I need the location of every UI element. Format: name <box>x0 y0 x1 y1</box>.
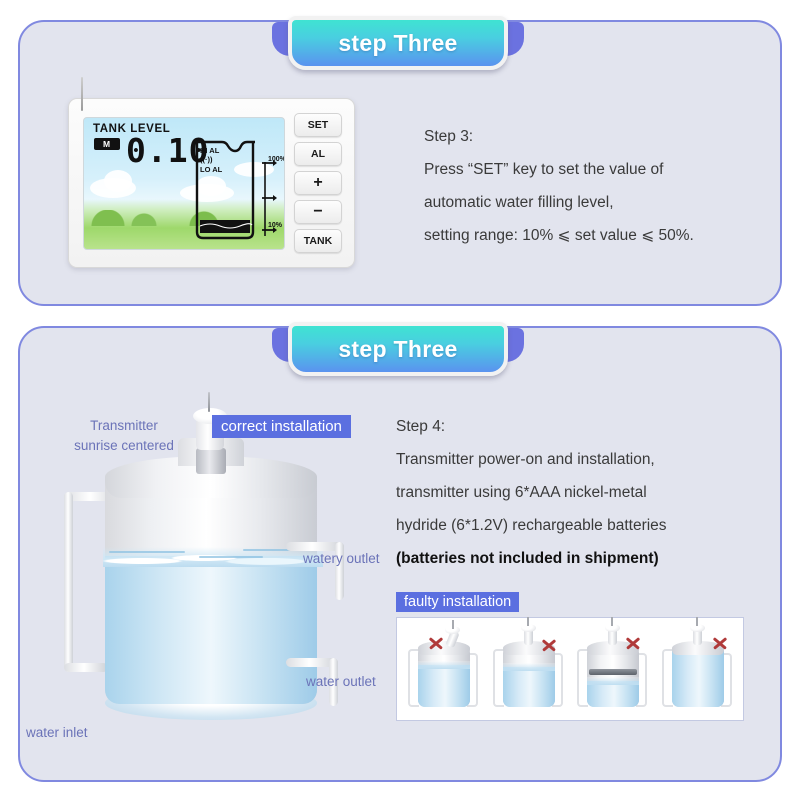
transmitter-label-line2: sunrise centered <box>58 436 190 456</box>
x-mark-icon <box>625 635 641 651</box>
mini-transmitter-antenna-icon <box>611 617 613 626</box>
al-key[interactable]: AL <box>294 142 342 166</box>
mini-transmitter-antenna-icon <box>452 620 454 629</box>
lcd-lo-alarm: LO AL <box>200 165 222 174</box>
step-banner-top: step Three <box>272 16 524 70</box>
mini-water <box>418 665 470 707</box>
mini-water <box>587 681 639 707</box>
wave-line <box>199 556 263 558</box>
faulty-installation-examples <box>396 617 744 721</box>
step4-line4: hydride (6*1.2V) rechargeable batteries <box>396 509 667 542</box>
mini-transmitter-antenna-icon <box>527 617 529 626</box>
mini-tank-body <box>503 649 555 707</box>
step4-line3: transmitter using 6*AAA nickel-metal <box>396 476 667 509</box>
lcd-hi-alarm: HI AL <box>200 146 222 155</box>
water-outlet-label: water outlet <box>306 674 376 689</box>
transmitter-label-line1: Transmitter <box>58 416 190 436</box>
lcd-screen: TANK LEVEL M 0.10 HI AL ((·)) LO AL <box>83 117 285 250</box>
minus-key[interactable]: − <box>294 200 342 224</box>
x-mark-icon <box>541 637 557 653</box>
transmitter-mount <box>196 448 226 474</box>
lcd-percent-scale: 100% 10% <box>262 160 282 238</box>
faulty-example-obstructed-baffle <box>573 623 651 715</box>
mini-tank-body <box>672 649 724 707</box>
antenna-icon <box>81 77 83 111</box>
correct-installation-badge: correct installation <box>212 415 351 438</box>
banner-label: step Three <box>338 336 457 363</box>
mini-water-surface <box>587 677 639 685</box>
ribbon-body: step Three <box>288 16 508 70</box>
mini-tank-dome <box>418 641 470 655</box>
water-inlet-label: water inlet <box>26 725 88 740</box>
mini-tank-body <box>418 649 470 707</box>
tank-key[interactable]: TANK <box>294 229 342 253</box>
transmitter-label: Transmitter sunrise centered <box>58 416 190 456</box>
x-mark-icon <box>712 635 728 651</box>
step4-instructions: Step 4: Transmitter power-on and install… <box>396 410 667 575</box>
tank-water <box>105 556 317 704</box>
banner-label: step Three <box>338 30 457 57</box>
step-banner-bottom: step Three <box>272 322 524 376</box>
faulty-example-overfilled-tank <box>658 623 736 715</box>
baffle-plate <box>589 669 637 675</box>
step3-instructions: Step 3: Press “SET” key to set the value… <box>424 120 694 252</box>
step4-line5: (batteries not included in shipment) <box>396 542 667 575</box>
set-key[interactable]: SET <box>294 113 342 137</box>
step3-line2: Press “SET” key to set the value of <box>424 153 694 186</box>
step3-line4: setting range: 10% ⩽ set value ⩽ 50%. <box>424 219 694 252</box>
plus-key[interactable]: + <box>294 171 342 195</box>
mini-water-surface <box>418 661 470 669</box>
watery-outlet-label: watery outlet <box>303 551 380 566</box>
x-mark-icon <box>428 635 444 651</box>
ribbon-body: step Three <box>288 322 508 376</box>
mini-tank-body <box>587 649 639 707</box>
faulty-example-tilted-transmitter <box>404 623 482 715</box>
step4-line2: Transmitter power-on and installation, <box>396 443 667 476</box>
device-keypad: SET AL + − TANK <box>294 113 344 258</box>
tank-body <box>105 472 317 704</box>
cloud-icon <box>104 170 132 192</box>
inlet-pipe-foot <box>64 663 108 672</box>
lcd-mode-badge: M <box>94 138 120 150</box>
faulty-installation-badge: faulty installation <box>396 592 519 612</box>
mini-water <box>672 649 724 707</box>
water-level-controller-device: TANK LEVEL M 0.10 HI AL ((·)) LO AL <box>68 98 355 268</box>
mini-transmitter-antenna-icon <box>696 617 698 626</box>
transmitter-antenna-icon <box>208 392 210 412</box>
lcd-scale-top: 100% <box>268 156 285 163</box>
step4-line1: Step 4: <box>396 410 667 443</box>
step3-line3: automatic water filling level, <box>424 186 694 219</box>
lcd-alarm-labels: HI AL ((·)) LO AL <box>200 146 222 174</box>
step3-line1: Step 3: <box>424 120 694 153</box>
page-root: step Three TANK LEVEL M 0.10 HI AL ((· <box>0 0 800 800</box>
lcd-signal-icon: ((·)) <box>200 155 222 164</box>
mini-water <box>503 667 555 707</box>
mini-water-surface <box>503 663 555 671</box>
faulty-example-offset-transmitter <box>489 623 567 715</box>
lcd-scale-bottom: 10% <box>268 222 282 229</box>
inlet-pipe-vertical <box>64 492 73 672</box>
wave-line <box>109 551 185 553</box>
